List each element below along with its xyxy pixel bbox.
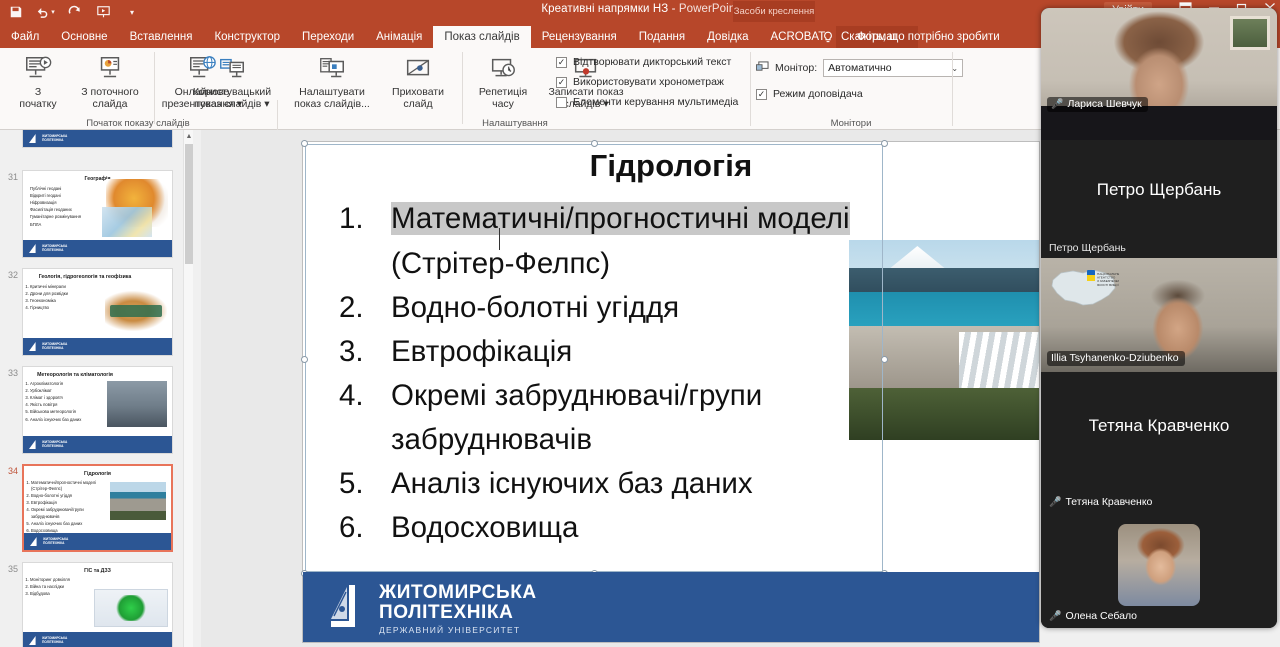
thumb-list-item: Урбоклімат (30, 388, 110, 394)
zoom-tile-olena-sebalo[interactable]: 🎤 Тетяна Кравченко 🎤 Олена Себало (1041, 490, 1277, 628)
participant-name-label: 🎤 Олена Себало (1049, 610, 1137, 622)
checkbox-presenter-view[interactable]: ✓ Режим доповідача (756, 88, 863, 100)
group-divider (462, 52, 463, 124)
btn-label-line1: З (35, 86, 41, 98)
thumb-logo-text: ЖИТОМИРСЬКАПОЛІТЕХНІКА (42, 343, 67, 350)
checkbox-icon[interactable]: ✓ (556, 77, 567, 88)
thumb-list-item: Евтрофікація (31, 500, 111, 506)
btn-label-line1: З поточного (81, 86, 138, 98)
checkbox-show-media-controls[interactable]: Елементи керування мультимедіа (556, 96, 738, 108)
start-from-current-slide-icon (70, 52, 150, 84)
thumb-list-item: Аналіз існуючих баз даних (30, 417, 110, 423)
slide-thumbnail-row[interactable]: 35 ГІС та ДЗЗ Моніторинг довкілля Війна … (0, 562, 183, 647)
thumbnail-pane-scrollbar[interactable]: ▲ (183, 130, 193, 647)
zoom-tile-tetyana-kravchenko[interactable]: Тетяна Кравченко (1041, 372, 1277, 490)
group-divider (154, 52, 155, 124)
slide-number: 35 (0, 562, 22, 647)
thumb-list-item: Математичні/прогностичні моделі (Стрітер… (31, 480, 111, 492)
btn-label-line1: Приховати (392, 86, 444, 98)
powerpoint-window: ▾ ▾ Креативні напрямки НЗ - PowerPoint У… (0, 0, 1280, 647)
ribbon-group-start-slide-show: З початку З поточного слайда (0, 48, 276, 130)
thumb-list: Публічні геоданi Відкриті геоданi Ніфров… (30, 186, 94, 228)
thumb-list-item: Геоекономіка (30, 298, 108, 304)
group-title-monitors: Монітори (752, 118, 950, 129)
thumb-footer: ЖИТОМИРСЬКАПОЛІТЕХНІКА (23, 240, 172, 257)
thumb-list-item: Клімат і здоров'я (30, 395, 110, 401)
thumb-list: Математичні/прогностичні моделі (Стрітер… (31, 480, 111, 535)
thumb-list: Критичні мінерали Дрони для розвідки Гео… (30, 284, 108, 312)
mute-icon: 🎤 (1049, 497, 1061, 508)
tell-me-box[interactable]: Скажіть, що потрібно зробити (822, 26, 1000, 48)
tab-file[interactable]: Файл (0, 26, 50, 48)
slide-thumbnail-row[interactable]: 33 Метеорологія та кліматологія Агроклім… (0, 366, 183, 454)
participant-name: Тетяна Кравченко (1065, 496, 1152, 508)
tab-transitions[interactable]: Переходи (291, 26, 365, 48)
mute-icon: 🎤 (1051, 99, 1063, 110)
set-up-slide-show-button[interactable]: Налаштувати показ слайдів... (286, 52, 378, 110)
checkbox-label: Використовувати хронометраж (573, 76, 724, 88)
university-logo-icon (29, 636, 40, 645)
participant-name-label: Illia Tsyhanenko-Dziubenko (1047, 351, 1185, 366)
slide-number (0, 130, 22, 148)
slide-thumbnail-pane[interactable]: ЖИТОМИРСЬКАПОЛІТЕХНІКА 31 Географія Публ… (0, 130, 183, 647)
custom-slide-show-button[interactable]: Користувацький показ слайдів ▾ (180, 52, 284, 110)
thumb-logo-text: ЖИТОМИРСЬКАПОЛІТЕХНІКА (42, 441, 67, 448)
participant-name: Олена Себало (1065, 610, 1137, 622)
svg-text:ЯКОСТІ ВИЩОЇ ОСВІТИ: ЯКОСТІ ВИЩОЇ ОСВІТИ (1097, 283, 1119, 287)
thumb-footer: ЖИТОМИРСЬКАПОЛІТЕХНІКА (23, 632, 172, 647)
university-logo-text: ЖИТОМИРСЬКА ПОЛІТЕХНІКА ДЕРЖАВНИЙ УНІВЕР… (379, 583, 537, 635)
thumb-list-item: Окремі забруднювачі/групи забруднювачів (31, 507, 111, 519)
custom-slide-show-icon (180, 52, 284, 84)
mute-icon: 🎤 (1049, 611, 1061, 622)
scrollbar-thumb[interactable] (185, 144, 193, 264)
btn-label-line2: слайд (403, 98, 432, 110)
thumb-logo-text: ЖИТОМИРСЬКАПОЛІТЕХНІКА (42, 245, 67, 252)
monitor-icon (756, 61, 769, 76)
lightbulb-icon (822, 31, 834, 44)
thumb-title: Геологія, гідрогеологія та геофізика (33, 274, 137, 281)
resize-handle-middle-right[interactable] (881, 356, 888, 363)
monitor-dropdown[interactable]: Автоматично ⌄ (823, 59, 963, 77)
resize-handle-middle-left[interactable] (301, 356, 308, 363)
thumb-list-item: Війна та наслідки (30, 584, 102, 590)
checkbox-label: Відтворювати дикторський текст (573, 56, 731, 68)
monitor-label: Монітор: (775, 62, 817, 74)
text-cursor (499, 228, 500, 250)
participant-name: Illia Tsyhanenko-Dziubenko (1051, 352, 1179, 364)
tab-animations[interactable]: Анімація (365, 26, 433, 48)
thumb-image-umbrellas (107, 381, 167, 427)
avatar (1118, 524, 1200, 606)
tab-home[interactable]: Основне (50, 26, 118, 48)
checkbox-label: Елементи керування мультимедіа (573, 96, 738, 108)
zoom-tile-larysa-shevchuk[interactable]: 🎤 Лариса Шевчук (1041, 8, 1277, 140)
tab-review[interactable]: Рецензування (531, 26, 628, 48)
thumb-list: Агрокліматологія Урбоклімат Клімат і здо… (30, 381, 110, 423)
btn-label-line1: Користувацький (193, 86, 271, 98)
thumb-list-item: БПЛА (30, 222, 94, 228)
thumb-list-item: Дрони для розвідки (30, 291, 108, 297)
tab-slide-show[interactable]: Показ слайдів (433, 26, 530, 48)
slide-thumbnail-32[interactable]: Геологія, гідрогеологія та геофізика Кри… (22, 268, 173, 356)
hide-slide-button[interactable]: Приховати слайд (378, 52, 458, 110)
participant-name-label: 🎤 Лариса Шевчук (1047, 97, 1148, 112)
btn-label-line2: часу (492, 98, 514, 110)
photo-spillway (959, 332, 1039, 392)
slide-thumbnail-34[interactable]: Гідрологія Математичні/прогностичні моде… (22, 464, 173, 552)
slide-number: 31 (0, 170, 22, 258)
slide-thumbnail-row-selected[interactable]: 34 Гідрологія Математичні/прогностичні м… (0, 464, 183, 552)
btn-label-line2: показ слайдів ▾ (194, 98, 269, 110)
tab-view[interactable]: Подання (628, 26, 696, 48)
slide-thumbnail-35[interactable]: ГІС та ДЗЗ Моніторинг довкілля Війна та … (22, 562, 173, 647)
university-logo: ЖИТОМИРСЬКА ПОЛІТЕХНІКА ДЕРЖАВНИЙ УНІВЕР… (325, 583, 537, 635)
app-name: PowerPoint (679, 3, 739, 15)
tab-help[interactable]: Довідка (696, 26, 759, 48)
title-separator: - (672, 3, 676, 15)
ribbon-group-set-up: Налаштувати показ слайдів... Приховати с… (280, 48, 746, 130)
thumb-image-geology-word (110, 305, 162, 317)
ukraine-map-icon: НАЦІОНАЛЬНЕ АГЕНТСТВО З ЗАБЕЗПЕЧЕННЯ ЯКО… (1049, 264, 1119, 312)
btn-label-line2: початку (19, 98, 56, 110)
avatar-photo (1118, 524, 1200, 606)
document-title: Креативні напрямки НЗ (541, 3, 668, 15)
slide-number: 34 (0, 464, 22, 552)
rehearse-timings-button[interactable]: Репетиція часу (466, 52, 540, 110)
thumb-logo-text: ЖИТОМИРСЬКАПОЛІТЕХНІКА (42, 637, 67, 644)
tab-design[interactable]: Конструктор (203, 26, 291, 48)
logo-line2: ПОЛІТЕХНІКА (379, 603, 537, 623)
university-logo-icon (325, 583, 373, 631)
ribbon-tabs[interactable]: Файл Основне Вставлення Конструктор Пере… (0, 26, 918, 48)
thumb-title: Метеорологія та кліматологія (37, 372, 113, 379)
participant-name-label-top: 🎤 Тетяна Кравченко (1049, 496, 1152, 508)
wall-picture-decor (1230, 16, 1270, 50)
resize-handle-top-left[interactable] (301, 140, 308, 147)
slide-thumbnail-31[interactable]: Географія Публічні геоданi Відкриті геод… (22, 170, 173, 258)
thumb-list: Моніторинг довкілля Війна та наслідки Ві… (30, 577, 102, 598)
slide-thumbnail-row[interactable]: 32 Геологія, гідрогеологія та геофізика … (0, 268, 183, 356)
participant-name: Лариса Шевчук (1067, 98, 1141, 110)
start-from-beginning-icon (8, 52, 68, 84)
slide-thumbnail-row[interactable]: 31 Географія Публічні геоданi Відкриті г… (0, 170, 183, 258)
thumb-footer: ЖИТОМИРСЬКАПОЛІТЕХНІКА (23, 338, 172, 355)
thumb-list-item: Агрокліматологія (30, 381, 110, 387)
tab-insert[interactable]: Вставлення (119, 26, 204, 48)
thumb-image-gis-green (116, 595, 146, 621)
thumb-list-item: Якість повітря (30, 402, 110, 408)
set-up-slide-show-icon (286, 52, 378, 84)
resize-handle-top-center[interactable] (591, 140, 598, 147)
btn-label-line2: показ слайдів... (294, 98, 370, 110)
thumb-logo-text: ЖИТОМИРСЬКАПОЛІТЕХНІКА (43, 538, 68, 545)
slide-footer: ЖИТОМИРСЬКА ПОЛІТЕХНІКА ДЕРЖАВНИЙ УНІВЕР… (303, 572, 1039, 642)
checkbox-icon[interactable]: ✓ (556, 57, 567, 68)
thumb-list-item: Водно-болотні угіддя (31, 493, 111, 499)
thumb-list-item: Ніфровизація (30, 200, 94, 206)
thumb-list-item: Аналіз існуючих баз даних (31, 521, 111, 527)
university-logo-icon (29, 342, 40, 351)
checkbox-label: Режим доповідача (773, 88, 863, 100)
checkbox-icon[interactable]: ✓ (756, 89, 767, 100)
thumb-title: ГІС та ДЗЗ (23, 568, 172, 575)
slide-thumbnail[interactable]: ЖИТОМИРСЬКАПОЛІТЕХНІКА (22, 130, 173, 148)
monitor-selector[interactable]: Монітор: Автоматично ⌄ (756, 59, 963, 77)
thumb-list-item: Публічні геоданi (30, 186, 94, 192)
thumb-list-item: Військова метеорологія (30, 409, 110, 415)
tell-me-text: Скажіть, що потрібно зробити (841, 31, 1000, 43)
university-logo-icon (30, 537, 41, 546)
thumb-list-item: Гірництво (30, 305, 108, 311)
slide-thumbnail-row[interactable]: ЖИТОМИРСЬКАПОЛІТЕХНІКА (0, 130, 183, 148)
checkbox-use-timings[interactable]: ✓ Використовувати хронометраж (556, 76, 724, 88)
checkbox-icon[interactable] (556, 97, 567, 108)
resize-handle-top-right[interactable] (881, 140, 888, 147)
start-from-current-slide-button[interactable]: З поточного слайда (70, 52, 150, 110)
monitor-value: Автоматично (828, 62, 892, 74)
btn-label-line1: Репетиція (479, 86, 527, 98)
btn-label-line2: слайда (92, 98, 127, 110)
zoom-tile-illia-tsyhanenko-dziubenko[interactable]: НАЦІОНАЛЬНЕ АГЕНТСТВО З ЗАБЕЗПЕЧЕННЯ ЯКО… (1041, 258, 1277, 372)
logo-line3: ДЕРЖАВНИЙ УНІВЕРСИТЕТ (379, 625, 537, 635)
thumb-footer: ЖИТОМИРСЬКАПОЛІТЕХНІКА (23, 130, 172, 147)
group-title-set-up: Налаштування (400, 118, 630, 129)
thumb-list-item: Гуманітарне розмінування (30, 214, 94, 220)
hide-slide-icon (378, 52, 458, 84)
thumb-title: Гідрологія (24, 471, 171, 478)
zoom-meeting-window[interactable]: 🎤 Лариса Шевчук Петро Щербань Петро Щерб… (1041, 8, 1277, 628)
current-slide[interactable]: Гідрологія 1. Математичні/прогностичні м… (303, 142, 1039, 642)
participant-big-name: Петро Щербань (1041, 180, 1277, 200)
group-divider (952, 52, 953, 126)
thumb-footer: ЖИТОМИРСЬКАПОЛІТЕХНІКА (24, 533, 171, 550)
thumb-image-dam (110, 482, 166, 520)
contextual-tab-group-label: Засоби креслення (733, 1, 815, 22)
thumb-footer: ЖИТОМИРСЬКАПОЛІТЕХНІКА (23, 436, 172, 453)
logo-line1: ЖИТОМИРСЬКА (379, 583, 537, 603)
group-divider (750, 52, 751, 126)
thumb-list-item: Моніторинг довкілля (30, 577, 102, 583)
participant-big-name: Тетяна Кравченко (1041, 416, 1277, 436)
zoom-tile-petro-shcherban[interactable]: Петро Щербань Петро Щербань (1041, 140, 1277, 258)
slide-number: 32 (0, 268, 22, 356)
participant-name-label: Петро Щербань (1049, 242, 1126, 254)
thumb-list-item: Критичні мінерали (30, 284, 108, 290)
start-from-beginning-button[interactable]: З початку (8, 52, 68, 110)
thumb-list-item: Фасилітація геоданих (30, 207, 94, 213)
slide-editing-canvas[interactable]: Гідрологія 1. Математичні/прогностичні м… (201, 130, 1040, 647)
btn-label-line1: Налаштувати (299, 86, 365, 98)
pane-splitter[interactable] (193, 130, 201, 647)
group-title-start-slide-show: Початок показу слайдів (0, 118, 276, 129)
thumb-list-item: Відбудова (30, 591, 102, 597)
thumb-list-item: Відкриті геоданi (30, 193, 94, 199)
thumb-logo-text: ЖИТОМИРСЬКАПОЛІТЕХНІКА (42, 135, 67, 142)
rehearse-timings-icon (466, 52, 540, 84)
text-placeholder-frame[interactable] (305, 144, 883, 572)
checkbox-play-narrations[interactable]: ✓ Відтворювати дикторський текст (556, 56, 731, 68)
slide-thumbnail-33[interactable]: Метеорологія та кліматологія Агроклімато… (22, 366, 173, 454)
university-logo-icon (29, 244, 40, 253)
thumb-image-map (102, 207, 152, 237)
university-logo-icon (29, 134, 40, 143)
university-logo-icon (29, 440, 40, 449)
ribbon-group-monitors: Монітор: Автоматично ⌄ ✓ Режим доповідач… (752, 48, 950, 130)
slide-number: 33 (0, 366, 22, 454)
